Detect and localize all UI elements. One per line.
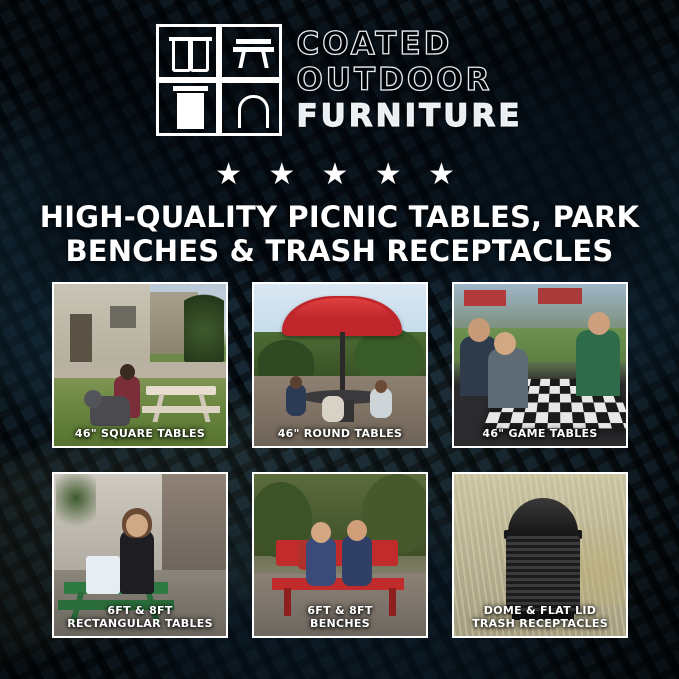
product-label: 46" ROUND TABLES	[254, 428, 426, 441]
product-label: DOME & FLAT LID TRASH RECEPTACLES	[454, 605, 626, 630]
logo-mark	[156, 24, 282, 136]
product-label: 46" SQUARE TABLES	[54, 428, 226, 441]
product-label-line-1: DOME & FLAT LID	[458, 605, 622, 618]
park-bench-icon	[219, 24, 282, 80]
product-card-rectangular-tables[interactable]: 6FT & 8FT RECTANGULAR TABLES	[52, 472, 228, 638]
game-tables-photo	[454, 284, 626, 446]
product-card-game-tables[interactable]: 46" GAME TABLES	[452, 282, 628, 448]
round-tables-photo	[254, 284, 426, 446]
product-label: 6FT & 8FT BENCHES	[254, 605, 426, 630]
product-card-round-tables[interactable]: 46" ROUND TABLES	[252, 282, 428, 448]
promotional-poster: COATED OUTDOOR FURNITURE ★ ★ ★ ★ ★ HIGH-…	[0, 0, 679, 679]
product-grid: 46" SQUARE TABLES 46" ROUND TABLES	[52, 282, 628, 638]
square-table-icon	[156, 24, 219, 80]
star-rating: ★ ★ ★ ★ ★	[0, 158, 679, 192]
brand-logo: COATED OUTDOOR FURNITURE	[0, 24, 679, 136]
product-card-square-tables[interactable]: 46" SQUARE TABLES	[52, 282, 228, 448]
headline: HIGH-QUALITY PICNIC TABLES, PARK BENCHES…	[0, 200, 679, 268]
product-label-line-1: 6FT & 8FT	[258, 605, 422, 618]
logo-line-1: COATED	[296, 26, 522, 62]
dome-lid-trash-icon	[219, 80, 282, 136]
product-label-line-2: BENCHES	[258, 618, 422, 631]
headline-line-2: BENCHES & TRASH RECEPTACLES	[26, 234, 653, 268]
product-card-benches[interactable]: 6FT & 8FT BENCHES	[252, 472, 428, 638]
square-tables-photo	[54, 284, 226, 446]
product-label-line-2: TRASH RECEPTACLES	[458, 618, 622, 631]
logo-line-3: FURNITURE	[296, 98, 522, 134]
product-label-line-2: RECTANGULAR TABLES	[58, 618, 222, 631]
product-label: 46" GAME TABLES	[454, 428, 626, 441]
product-card-trash-receptacles[interactable]: DOME & FLAT LID TRASH RECEPTACLES	[452, 472, 628, 638]
flat-lid-trash-icon	[156, 80, 219, 136]
product-label-line-1: 6FT & 8FT	[58, 605, 222, 618]
product-label: 6FT & 8FT RECTANGULAR TABLES	[54, 605, 226, 630]
logo-line-2: OUTDOOR	[296, 62, 522, 98]
logo-wordmark: COATED OUTDOOR FURNITURE	[296, 26, 522, 134]
headline-line-1: HIGH-QUALITY PICNIC TABLES, PARK	[26, 200, 653, 234]
